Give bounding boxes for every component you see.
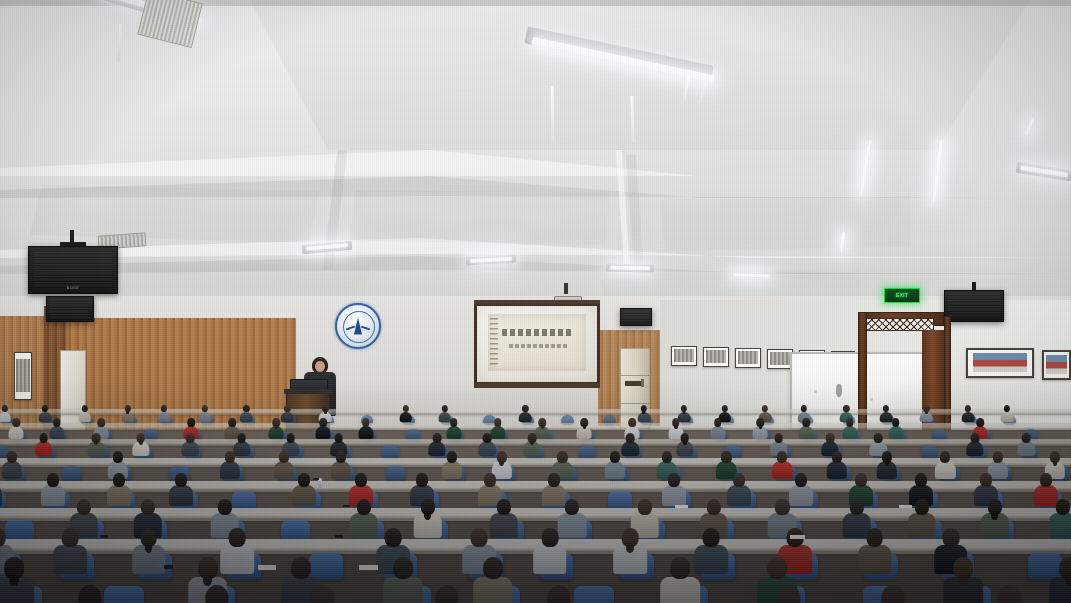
audience-member-torso <box>519 412 532 423</box>
audience-member-head <box>175 473 187 487</box>
audience-member-head <box>892 418 900 427</box>
audience-member <box>357 418 374 438</box>
audience-member-ponytail <box>1065 574 1071 586</box>
audience-member <box>709 418 726 438</box>
audience-member <box>180 433 200 456</box>
audience-member-torso <box>399 412 412 423</box>
phone <box>335 535 343 538</box>
audience-member-torso <box>842 426 857 439</box>
audience-member-head <box>355 473 367 487</box>
audience-member-torso <box>1 461 21 479</box>
audience-member <box>825 451 848 478</box>
audience-member-head <box>874 433 883 443</box>
projection-screen <box>474 303 600 385</box>
audience-member-head <box>993 451 1003 463</box>
audience-member-torso <box>169 485 193 506</box>
audience-member <box>381 557 426 603</box>
audience-member-head <box>450 418 458 427</box>
audience-member-head <box>186 433 195 443</box>
audience-member-head <box>205 585 228 603</box>
audience-member <box>157 405 171 422</box>
audience-member-torso <box>1048 513 1071 538</box>
audience-member-head <box>629 418 637 427</box>
audience-member-head <box>229 418 237 427</box>
ceiling <box>0 0 1071 330</box>
audience-member <box>919 405 933 422</box>
audience-member-head <box>882 585 905 603</box>
audience-member-torso <box>966 441 983 456</box>
audience-member-torso <box>533 545 567 574</box>
audience-member-head <box>557 451 567 463</box>
audience-member-head <box>218 499 232 515</box>
audience-member-head <box>286 433 295 443</box>
audience-member-head <box>311 585 334 603</box>
audience-member <box>129 528 167 573</box>
audience-member-head <box>915 473 927 487</box>
audience-member-head <box>775 499 789 515</box>
audience-member-torso <box>0 485 2 506</box>
audience-member <box>51 528 89 573</box>
audience-member <box>470 557 515 603</box>
audience-member-torso <box>199 412 212 423</box>
audience-member-head <box>670 557 690 579</box>
audience-member-head <box>832 451 842 463</box>
framed-photo <box>14 352 32 400</box>
audience-member <box>876 451 899 478</box>
audience-member-torso <box>888 426 903 439</box>
audience-member-head <box>733 473 745 487</box>
audience-member <box>763 585 816 603</box>
audience-member-head <box>548 473 560 487</box>
audience-member-torso <box>799 426 814 439</box>
phone <box>164 565 173 569</box>
lecture-hall-photograph: 教育发展 · 专业指南 · 职业规划展望 南京航空航天大学 · 学生职业发展与就… <box>0 0 1071 603</box>
audience-member-head <box>78 585 101 603</box>
audience-member-torso <box>935 461 955 479</box>
audience-member-head <box>62 528 79 547</box>
audience-member-head <box>140 499 154 515</box>
audience-member-ponytail <box>145 543 153 553</box>
audience-member <box>533 585 586 603</box>
audience-member-head <box>319 418 327 427</box>
audience-member <box>867 585 920 603</box>
audience-member <box>0 473 3 505</box>
audience-member-head <box>229 528 246 547</box>
audience-member-head <box>777 451 787 463</box>
exit-sign: EXIT <box>884 288 920 303</box>
framed-group-photo <box>966 348 1034 378</box>
audience-member-head <box>188 418 196 427</box>
audience-member <box>518 405 532 422</box>
speaker-brand-label: BOSE <box>67 285 80 290</box>
audience-member <box>239 405 253 422</box>
audience-member <box>522 433 542 456</box>
fluorescent-tube-fixture <box>730 272 776 284</box>
audience-member <box>39 473 66 505</box>
audience-member-head <box>483 557 503 579</box>
audience-seating <box>0 396 1071 603</box>
audience-member <box>105 473 132 505</box>
audience-member-ponytail <box>275 425 279 430</box>
audience-member-head <box>336 451 346 463</box>
audience-member-torso <box>158 412 171 423</box>
university-emblem <box>335 303 381 349</box>
audience-member-head <box>795 473 807 487</box>
audience-member <box>421 585 474 603</box>
audience-member-head <box>39 433 48 443</box>
fluorescent-tube-fixture <box>606 264 658 276</box>
audience-member <box>191 585 244 603</box>
wall-speaker-mid-right <box>620 308 652 326</box>
audience-member-torso <box>827 461 847 479</box>
audience-member-torso <box>384 577 424 603</box>
audience-member-torso <box>446 426 461 439</box>
audience-member-torso <box>182 441 199 456</box>
audience-member <box>576 418 593 438</box>
audience-member <box>887 418 904 438</box>
audience-member <box>34 433 54 456</box>
desk <box>0 458 1071 467</box>
audience-member-head <box>971 433 980 443</box>
audience-member <box>121 405 135 422</box>
audience-member-head <box>768 557 788 579</box>
audience-member <box>218 451 241 478</box>
audience-member-torso <box>54 545 88 574</box>
audience-member-head <box>494 418 502 427</box>
audience-member-ponytail <box>626 543 634 553</box>
audience-member <box>965 433 985 456</box>
audience-member-torso <box>35 441 52 456</box>
framed-photo <box>671 346 697 366</box>
slide-spiral-binding <box>490 318 498 366</box>
audience-member-torso <box>41 485 65 506</box>
audience-member-head <box>1022 433 1031 443</box>
slide-subtitle-text <box>509 344 566 348</box>
audience-member-head <box>565 499 579 515</box>
fluorescent-tube-fixture <box>860 140 880 210</box>
audience-member-head <box>497 499 511 515</box>
audience-member-head <box>436 585 459 603</box>
audience-member <box>0 451 23 478</box>
audience-member-torso <box>1018 441 1035 456</box>
audience-member <box>611 528 649 573</box>
chair[interactable] <box>386 466 406 482</box>
audience-member <box>661 473 688 505</box>
audience-member-head <box>97 418 105 427</box>
audience-member-torso <box>473 577 513 603</box>
fluorescent-tube-fixture <box>1024 118 1044 148</box>
audience-member-head <box>855 473 867 487</box>
phone <box>343 505 350 508</box>
audience-member <box>983 585 1036 603</box>
audience-member <box>399 405 413 422</box>
audience-member-head <box>998 585 1021 603</box>
audience-member-torso <box>240 412 253 423</box>
wall-speaker-right <box>944 290 1004 322</box>
audience-member-ponytail <box>541 425 545 430</box>
audience-member-head <box>668 473 680 487</box>
audience-member-torso <box>358 426 373 439</box>
audience-member-head <box>1040 473 1052 487</box>
audience-member-head <box>662 451 672 463</box>
audience-member <box>1047 499 1071 537</box>
audience-member-head <box>416 473 428 487</box>
audience-member-torso <box>660 577 700 603</box>
audience-member <box>1016 433 1036 456</box>
audience-member-head <box>866 528 883 547</box>
audience-member-head <box>237 433 246 443</box>
audience-member-head <box>362 418 370 427</box>
audience-member-head <box>940 451 950 463</box>
audience-member-ponytail <box>583 425 587 430</box>
fluorescent-tube-fixture <box>932 140 952 210</box>
audience-member-torso <box>1001 412 1014 423</box>
fluorescent-tube-fixture <box>524 42 744 152</box>
screen-bottom-bar <box>474 383 600 388</box>
audience-member <box>658 557 703 603</box>
audience-member-torso <box>727 485 751 506</box>
audience-member-head <box>826 433 835 443</box>
audience-member-head <box>803 418 811 427</box>
presentation-slide <box>488 314 586 370</box>
notebook <box>258 565 276 570</box>
audience-member <box>445 418 462 438</box>
audience-member-head <box>777 585 800 603</box>
audience-member-head <box>707 499 721 515</box>
audience-member-ponytail <box>674 425 678 430</box>
framed-photo <box>703 347 729 367</box>
audience-member-head <box>483 433 492 443</box>
audience-member-head <box>1056 499 1070 515</box>
screen-top-bar <box>474 300 600 304</box>
audience-member-torso <box>858 545 892 574</box>
fluorescent-tube-fixture <box>302 243 354 255</box>
audience-member-head <box>721 451 731 463</box>
audience-member-head <box>279 451 289 463</box>
slide-title-text <box>502 329 575 336</box>
audience-member-ponytail <box>9 574 18 586</box>
exit-sign-label: EXIT <box>896 293 908 299</box>
audience-member <box>412 499 444 537</box>
audience-member <box>1047 557 1071 603</box>
audience-member-head <box>849 499 863 515</box>
audience-member-head <box>610 451 620 463</box>
audience-member-head <box>113 473 125 487</box>
audience-member <box>0 557 36 603</box>
audience-member-torso <box>292 485 316 506</box>
audience-member-head <box>471 528 488 547</box>
audience-member-torso <box>9 426 24 439</box>
audience-member <box>167 473 194 505</box>
audience-member-head <box>484 473 496 487</box>
audience-member-head <box>433 433 442 443</box>
audience-member-head <box>394 557 414 579</box>
audience-member-head <box>547 585 570 603</box>
audience-member-head <box>626 433 635 443</box>
phone <box>100 535 108 538</box>
audience-member-head <box>915 499 929 515</box>
audience-member <box>77 405 91 422</box>
audience-member-torso <box>442 461 462 479</box>
audience-member-head <box>980 473 992 487</box>
audience-member <box>296 585 349 603</box>
audience-member-torso <box>662 485 686 506</box>
audience-member-torso <box>710 426 725 439</box>
audience-member <box>8 418 25 438</box>
audience-member-head <box>703 528 720 547</box>
audience-member <box>63 585 116 603</box>
notebook <box>359 565 377 570</box>
audience-member-ponytail <box>424 511 431 520</box>
audience-member-ponytail <box>991 511 998 520</box>
audience-member-ponytail <box>959 574 968 586</box>
audience-member-head <box>77 499 91 515</box>
audience-member-head <box>447 451 457 463</box>
audience-member <box>941 557 986 603</box>
audience-member-torso <box>605 461 625 479</box>
framed-group-photo <box>1042 350 1071 380</box>
audience-member-head <box>385 528 402 547</box>
framed-photo <box>735 348 761 368</box>
audience-member-head <box>224 451 234 463</box>
fluorescent-tube-fixture <box>838 232 856 262</box>
fluorescent-tube-fixture <box>466 256 518 268</box>
lectern-top-surface <box>284 389 332 394</box>
audience-member-head <box>774 433 783 443</box>
audience-member <box>131 433 151 456</box>
audience-member-torso <box>107 485 131 506</box>
audience-member-torso <box>78 412 91 423</box>
presenter-face <box>315 361 325 372</box>
audience-member <box>978 499 1010 537</box>
audience-member-head <box>714 418 722 427</box>
audience-member-ponytail <box>759 425 763 430</box>
audience-member <box>841 418 858 438</box>
notebook <box>790 535 806 539</box>
audience-member <box>934 451 957 478</box>
fluorescent-tube-fixture <box>1016 166 1071 182</box>
audience-member-head <box>541 528 558 547</box>
audience-member-head <box>47 473 59 487</box>
audience-member-head <box>7 451 17 463</box>
audience-member <box>752 418 769 438</box>
audience-member <box>1000 405 1014 422</box>
audience-member-head <box>638 499 652 515</box>
audience-member-head <box>13 418 21 427</box>
audience-member <box>440 451 463 478</box>
notebook <box>899 505 912 509</box>
audience-member <box>798 418 815 438</box>
ceiling-speaker-left: BOSE <box>28 246 118 294</box>
audience-member-head <box>291 557 311 579</box>
audience-member-torso <box>219 461 239 479</box>
audience-member-head <box>356 499 370 515</box>
audience-member-head <box>942 528 959 547</box>
transom-grille <box>867 319 933 330</box>
audience-member-head <box>976 418 984 427</box>
audience-member <box>855 528 893 573</box>
audience-member <box>86 433 106 456</box>
notebook <box>675 505 688 509</box>
wall-speaker-left <box>46 296 94 322</box>
audience-member <box>604 451 627 478</box>
audience-member-head <box>53 418 61 427</box>
audience-member-head <box>334 433 343 443</box>
audience-member-head <box>846 418 854 427</box>
audience-member <box>531 528 569 573</box>
audience-member-head <box>113 451 123 463</box>
